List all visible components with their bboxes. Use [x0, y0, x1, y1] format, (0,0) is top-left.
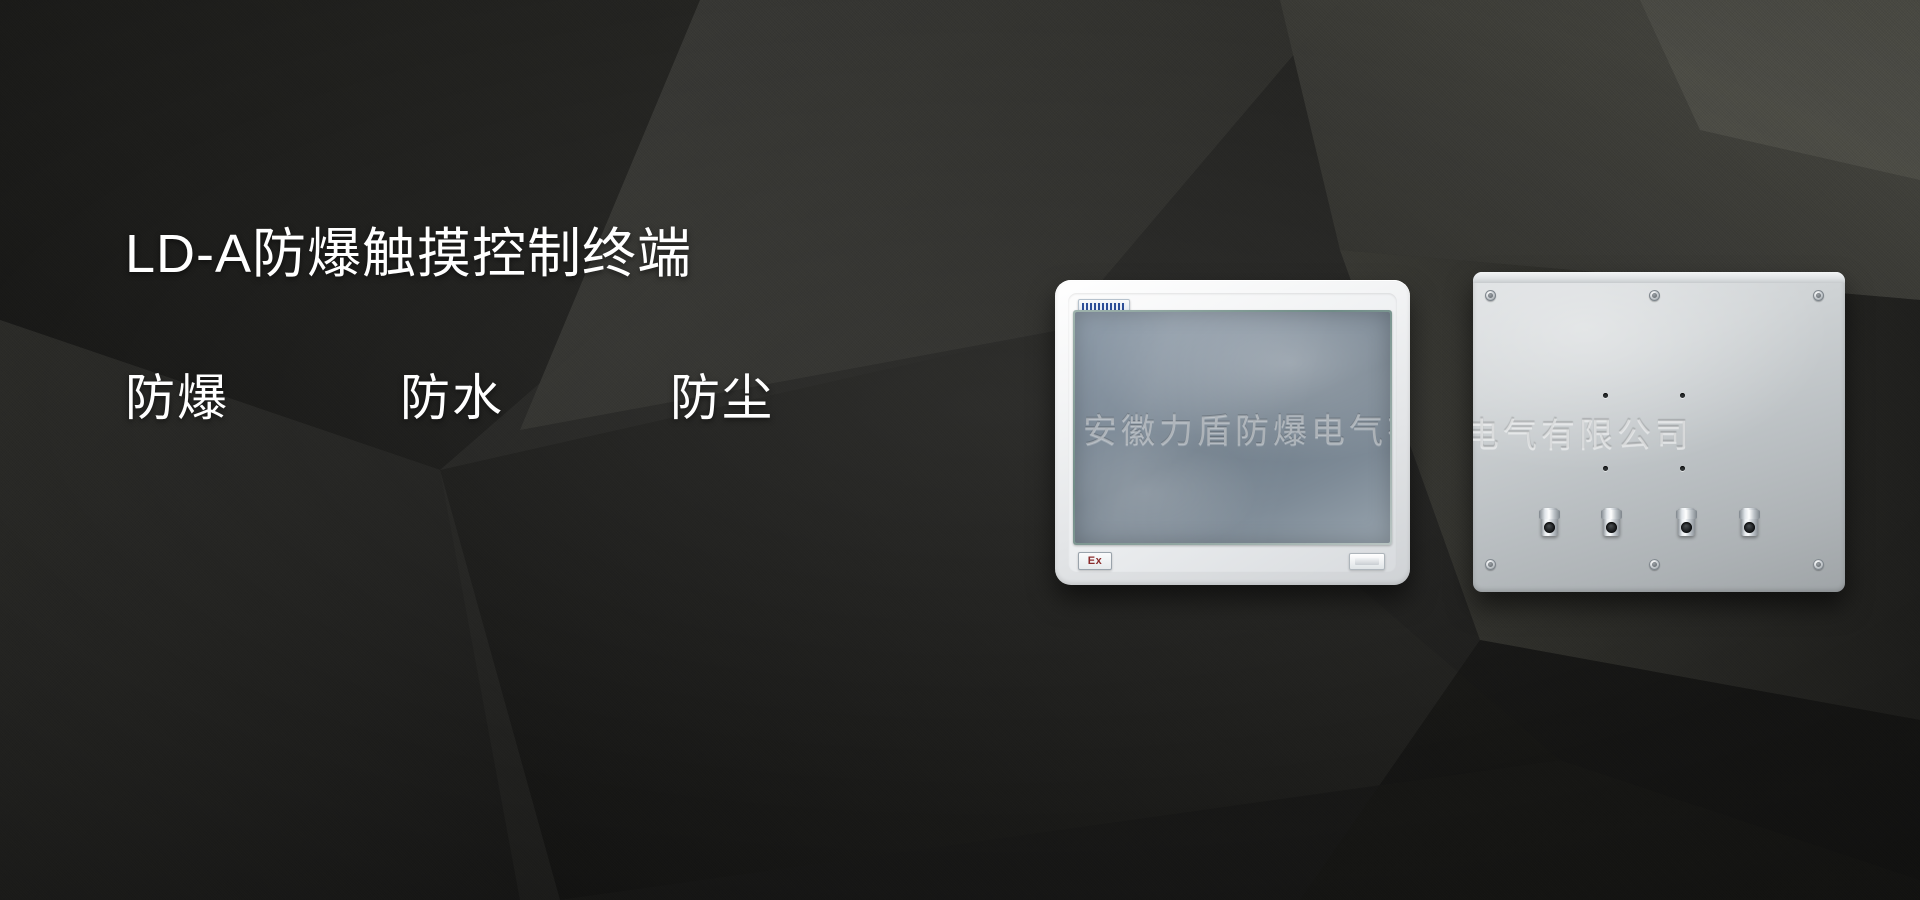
feature-item-explosion-proof: 防爆	[125, 373, 400, 423]
banner-headline: LD-A防爆触摸控制终端	[125, 226, 885, 283]
gland-nut	[1601, 510, 1622, 519]
pinhole-lower-right	[1680, 466, 1685, 471]
screw-bottom-left	[1485, 559, 1496, 570]
touch-screen[interactable]: 安徽力盾防爆电气有限公司	[1075, 312, 1390, 543]
product-banner: LD-A防爆触摸控制终端 防爆 防水 防尘 安徽力盾防爆电气有限公司 Ex	[0, 0, 1920, 900]
copy-block: LD-A防爆触摸控制终端 防爆 防水 防尘	[125, 226, 885, 423]
screen-watermark: 安徽力盾防爆电气有限公司	[1075, 403, 1390, 452]
back-top-edge	[1473, 272, 1845, 283]
product-front-unit: 安徽力盾防爆电气有限公司 Ex	[1055, 280, 1410, 585]
feature-list: 防爆 防水 防尘	[125, 373, 825, 423]
gland-opening	[1744, 522, 1755, 533]
feature-item-dustproof: 防尘	[670, 373, 825, 423]
gland-opening	[1606, 522, 1617, 533]
ex-certification-badge: Ex	[1078, 552, 1112, 570]
gland-opening	[1681, 522, 1692, 533]
nameplate-badge	[1349, 553, 1385, 570]
gland-nut	[1676, 510, 1697, 519]
gland-nut	[1739, 510, 1760, 519]
screw-bottom-right	[1813, 559, 1824, 570]
gland-nut	[1539, 510, 1560, 519]
product-back-unit: 安徽力盾防爆电气有限公司	[1473, 272, 1845, 592]
front-screen-frame: 安徽力盾防爆电气有限公司	[1073, 310, 1392, 545]
screw-top-left	[1485, 290, 1496, 301]
back-watermark: 安徽力盾防爆电气有限公司	[1473, 408, 1845, 457]
feature-item-waterproof: 防水	[400, 373, 670, 423]
pinhole-lower-left	[1603, 466, 1608, 471]
pinhole-upper-right	[1680, 393, 1685, 398]
gland-opening	[1544, 522, 1555, 533]
cable-gland-3	[1678, 508, 1695, 536]
screw-top-center	[1649, 290, 1660, 301]
screw-top-right	[1813, 290, 1824, 301]
screw-bottom-center	[1649, 559, 1660, 570]
cable-gland-2	[1603, 508, 1620, 536]
cable-gland-1	[1541, 508, 1558, 536]
pinhole-upper-left	[1603, 393, 1608, 398]
product-image-stage: 安徽力盾防爆电气有限公司 Ex 安徽力盾防爆电气有限公司	[1055, 272, 1855, 622]
cable-gland-4	[1741, 508, 1758, 536]
